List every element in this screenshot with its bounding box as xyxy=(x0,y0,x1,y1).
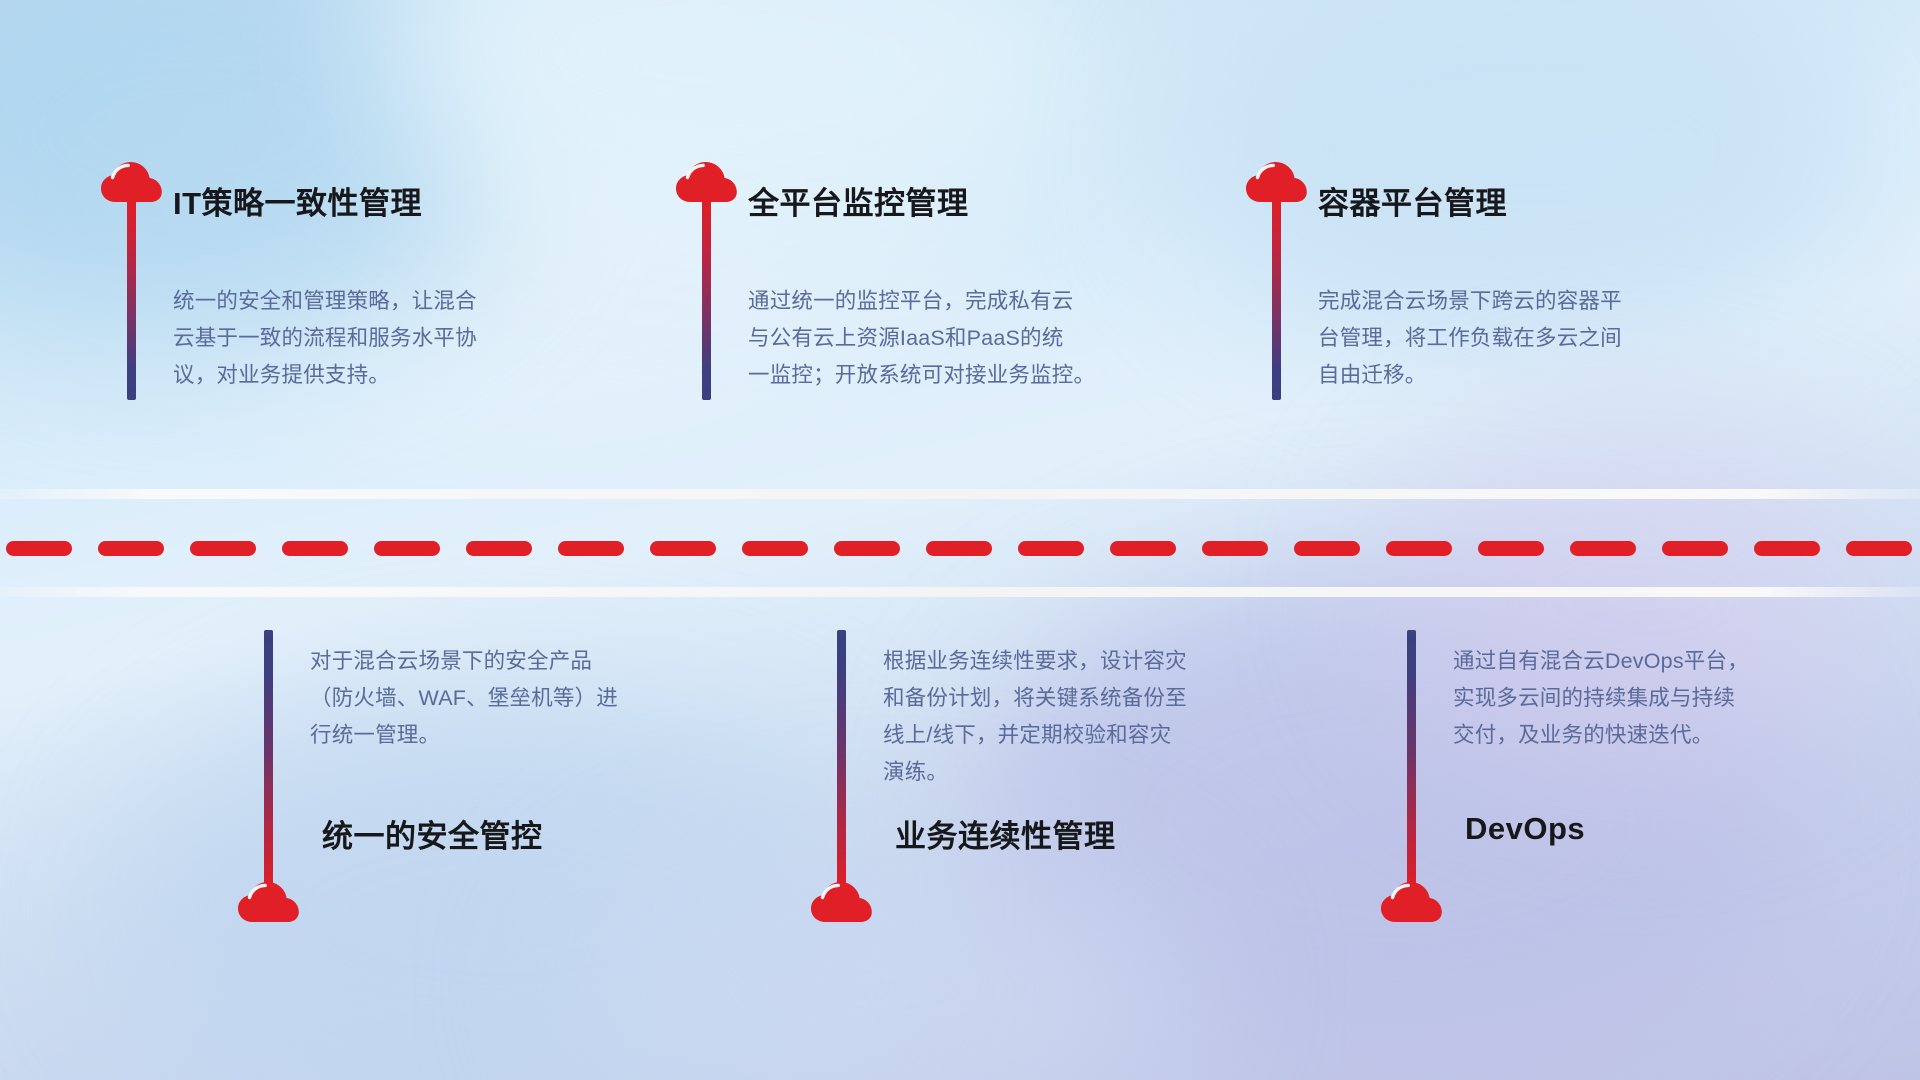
background-blob xyxy=(120,700,880,1080)
road-dash xyxy=(190,541,256,556)
column-description: 对于混合云场景下的安全产品 （防火墙、WAF、堡垒机等）进 行统一管理。 xyxy=(310,643,650,754)
description-line: 统一的安全和管理策略，让混合 xyxy=(173,283,513,320)
description-line: 与公有云上资源IaaS和PaaS的统 xyxy=(748,320,1088,357)
road-dash xyxy=(558,541,624,556)
cloud-pin-icon xyxy=(237,880,301,926)
road-dash xyxy=(1386,541,1452,556)
background-blob xyxy=(560,840,1200,1080)
column-heading: 全平台监控管理 xyxy=(748,178,969,223)
cloud-pin-icon xyxy=(1380,880,1444,926)
description-line: 演练。 xyxy=(883,754,1223,791)
connector-stem xyxy=(702,200,711,400)
description-line: 交付，及业务的快速迭代。 xyxy=(1453,717,1793,754)
connector-stem xyxy=(127,200,136,400)
connector-stem xyxy=(1272,200,1281,400)
column-heading: 统一的安全管控 xyxy=(322,811,543,856)
column-description: 根据业务连续性要求，设计容灾 和备份计划，将关键系统备份至 线上/线下，并定期校… xyxy=(883,643,1223,791)
description-line: 自由迁移。 xyxy=(1318,357,1658,394)
cloud-pin-icon xyxy=(810,880,874,926)
road-dash xyxy=(742,541,808,556)
road-dash xyxy=(374,541,440,556)
road-center-dashes xyxy=(0,540,1920,556)
description-line: （防火墙、WAF、堡垒机等）进 xyxy=(310,680,650,717)
road-dash xyxy=(650,541,716,556)
connector-stem xyxy=(837,630,846,884)
road-dash xyxy=(1570,541,1636,556)
road-dash xyxy=(1846,541,1912,556)
road-dash xyxy=(1110,541,1176,556)
road-dash xyxy=(6,541,72,556)
road-dash xyxy=(1294,541,1360,556)
description-line: 议，对业务提供支持。 xyxy=(173,357,513,394)
description-line: 根据业务连续性要求，设计容灾 xyxy=(883,643,1223,680)
column-heading: 容器平台管理 xyxy=(1318,178,1507,223)
road-dash xyxy=(834,541,900,556)
connector-stem xyxy=(264,630,273,884)
road-dash xyxy=(1018,541,1084,556)
road-edge-line-bottom xyxy=(0,587,1920,597)
description-line: 一监控；开放系统可对接业务监控。 xyxy=(748,357,1088,394)
infographic-canvas: IT策略一致性管理 统一的安全和管理策略，让混合 云基于一致的流程和服务水平协 … xyxy=(0,0,1920,1080)
description-line: 台管理，将工作负载在多云之间 xyxy=(1318,320,1658,357)
description-line: 完成混合云场景下跨云的容器平 xyxy=(1318,283,1658,320)
column-heading: DevOps xyxy=(1465,811,1585,847)
column-heading: IT策略一致性管理 xyxy=(173,178,422,223)
description-line: 和备份计划，将关键系统备份至 xyxy=(883,680,1223,717)
road-dash xyxy=(1202,541,1268,556)
column-description: 通过统一的监控平台，完成私有云 与公有云上资源IaaS和PaaS的统 一监控；开… xyxy=(748,283,1088,394)
road-dash xyxy=(282,541,348,556)
description-line: 通过自有混合云DevOps平台， xyxy=(1453,643,1793,680)
road-dash xyxy=(1662,541,1728,556)
connector-stem xyxy=(1407,630,1416,884)
column-description: 完成混合云场景下跨云的容器平 台管理，将工作负载在多云之间 自由迁移。 xyxy=(1318,283,1658,394)
description-line: 云基于一致的流程和服务水平协 xyxy=(173,320,513,357)
road-dash xyxy=(466,541,532,556)
road-dash xyxy=(1754,541,1820,556)
background-blob xyxy=(380,0,1100,240)
description-line: 对于混合云场景下的安全产品 xyxy=(310,643,650,680)
description-line: 线上/线下，并定期校验和容灾 xyxy=(883,717,1223,754)
column-description: 统一的安全和管理策略，让混合 云基于一致的流程和服务水平协 议，对业务提供支持。 xyxy=(173,283,513,394)
road-dash xyxy=(1478,541,1544,556)
column-heading: 业务连续性管理 xyxy=(895,811,1116,856)
road-edge-line-top xyxy=(0,489,1920,499)
road-dash xyxy=(98,541,164,556)
description-line: 通过统一的监控平台，完成私有云 xyxy=(748,283,1088,320)
road-dash xyxy=(926,541,992,556)
column-description: 通过自有混合云DevOps平台， 实现多云间的持续集成与持续 交付，及业务的快速… xyxy=(1453,643,1793,754)
description-line: 行统一管理。 xyxy=(310,717,650,754)
description-line: 实现多云间的持续集成与持续 xyxy=(1453,680,1793,717)
